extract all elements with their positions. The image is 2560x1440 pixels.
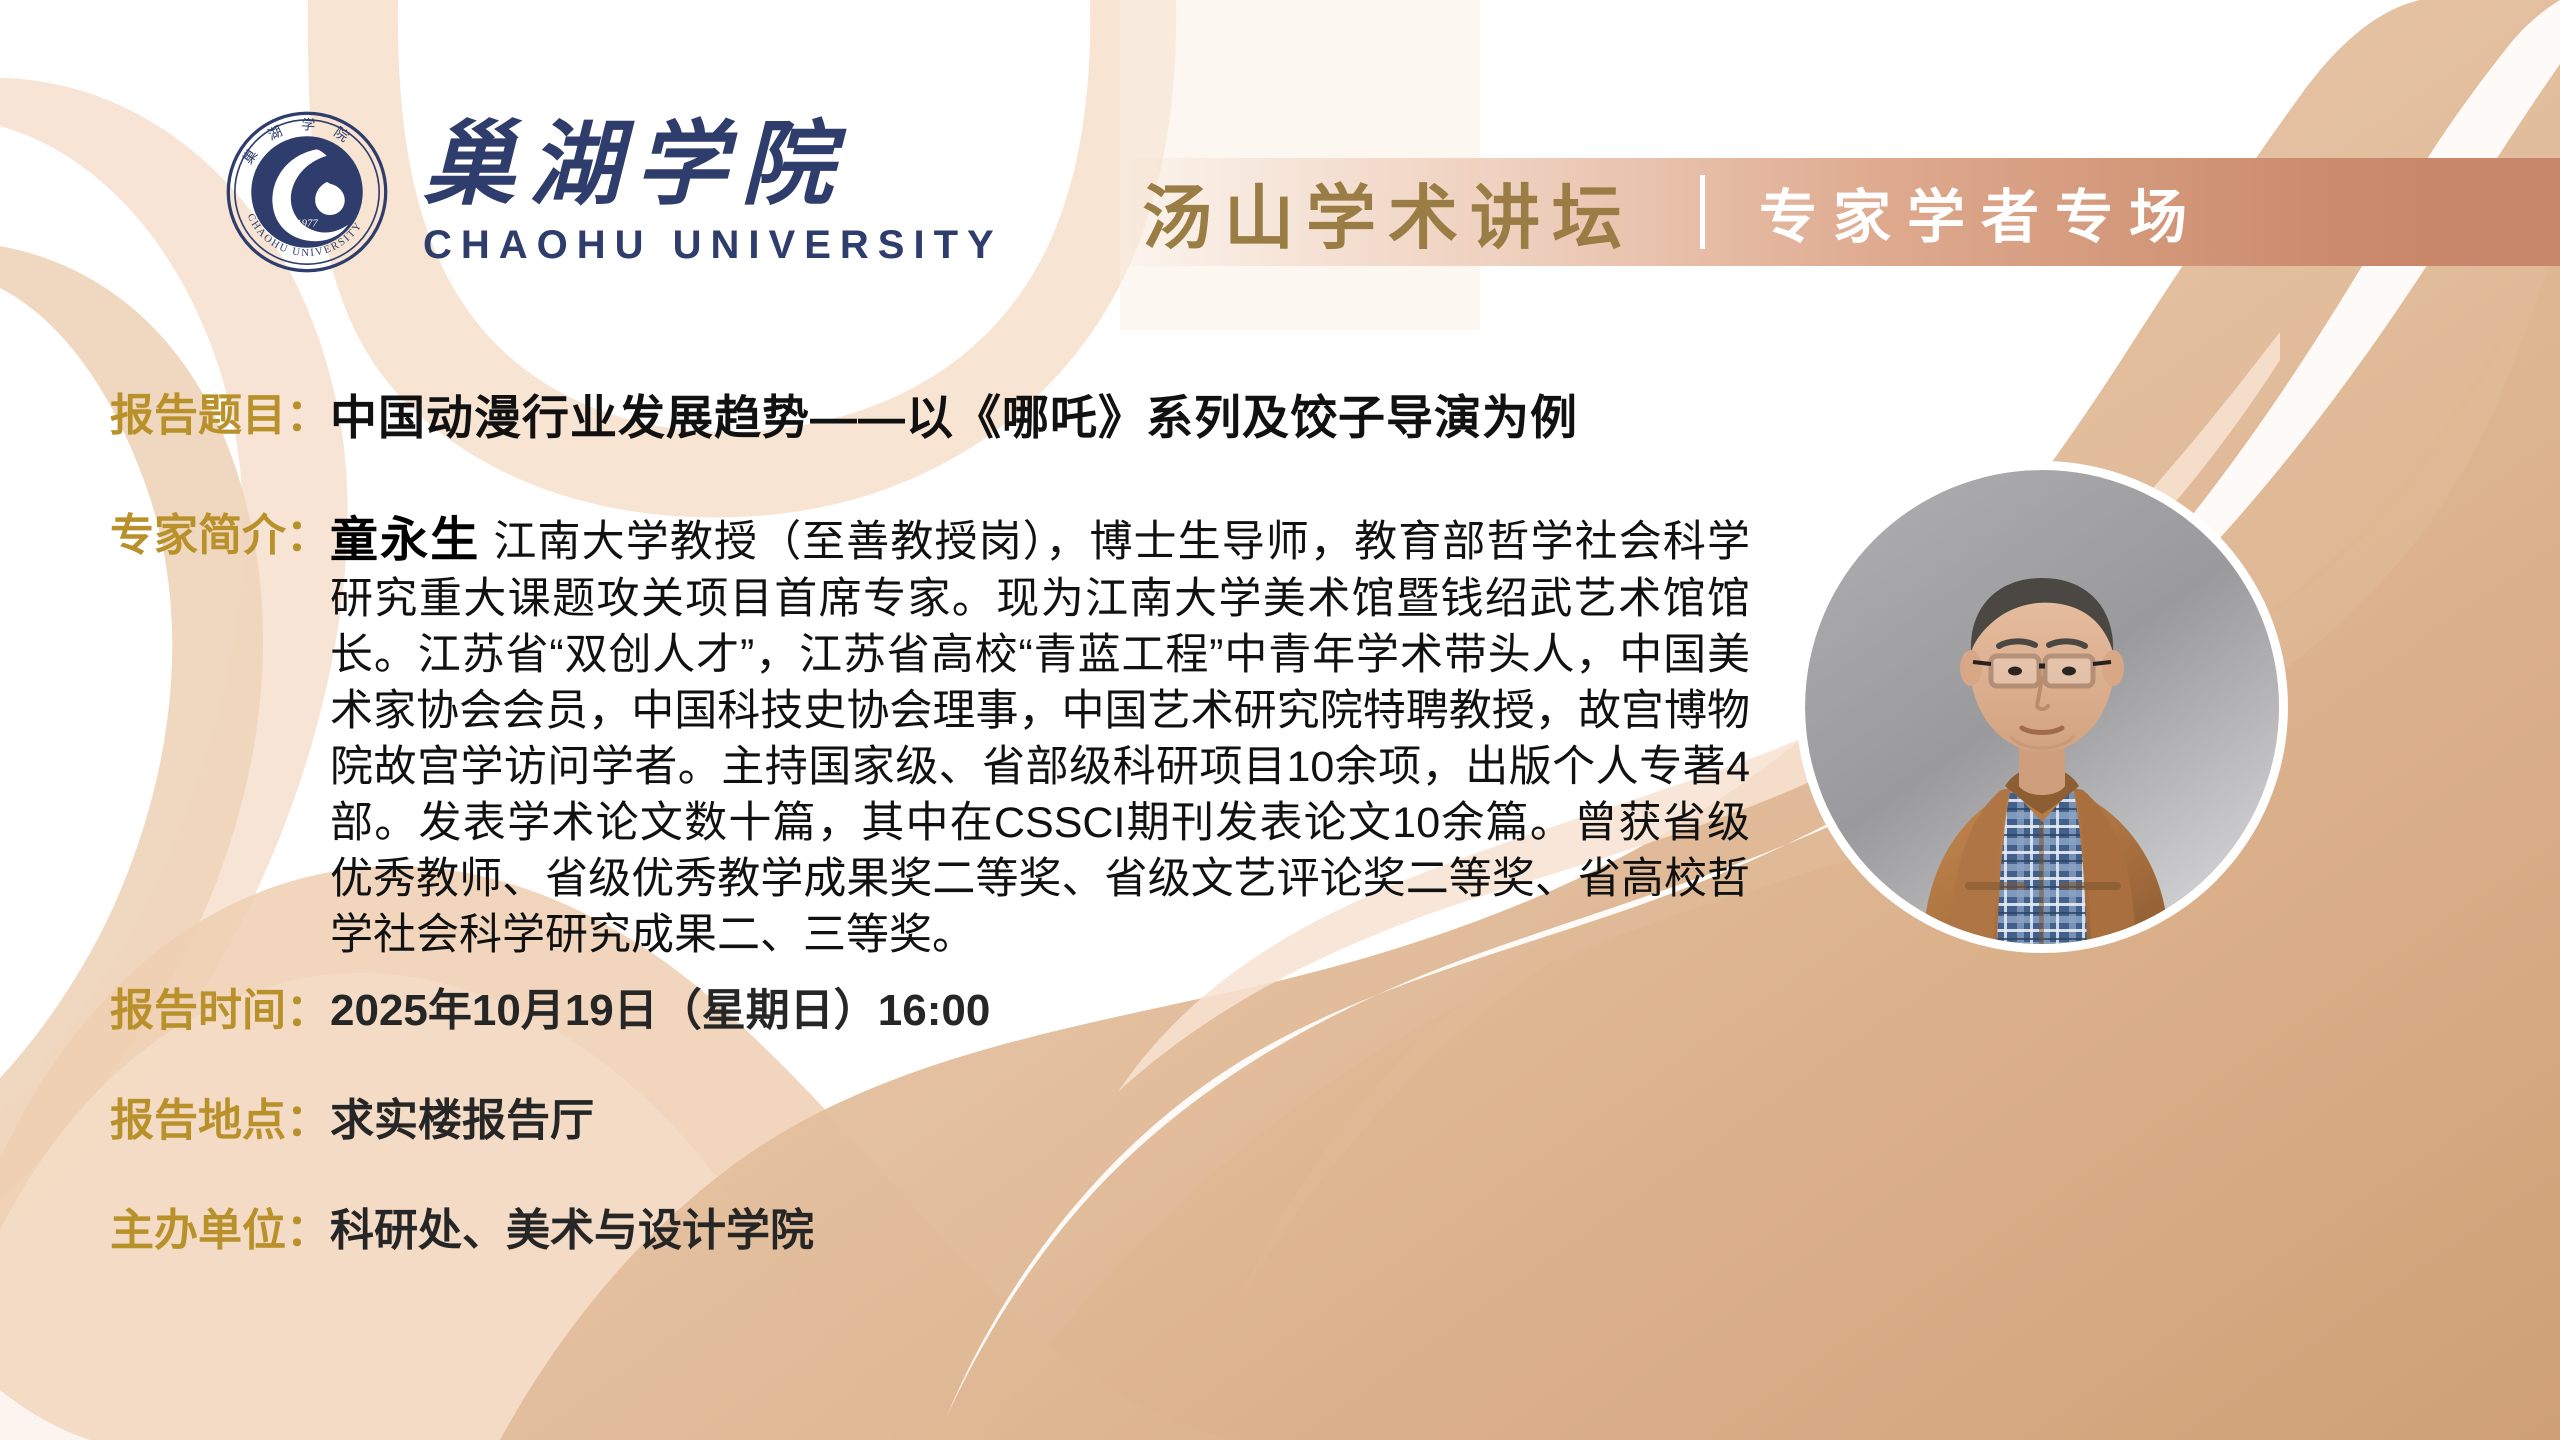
place-label: 报告地点： <box>110 1095 330 1148</box>
place-value: 求实楼报告厅 <box>330 1095 594 1148</box>
topic-label: 报告题目： <box>110 390 330 443</box>
svg-text:1977: 1977 <box>296 218 318 229</box>
field-host: 主办单位： 科研处、美术与设计学院 <box>110 1205 814 1258</box>
field-place: 报告地点： 求实楼报告厅 <box>110 1095 594 1148</box>
speaker-bio-body: 江南大学教授（至善教授岗），博士生导师，教育部哲学社会科学研究重大课题攻关项目首… <box>330 518 1750 959</box>
lecture-poster: 1977 巢 湖 学 院 CHAOHU UNIVERSITY 巢湖学院 CHAO… <box>0 0 2560 1440</box>
time-value: 2025年10月19日（星期日）16:00 <box>330 985 990 1038</box>
banner-subtitle: 专家学者专场 <box>1759 170 2203 254</box>
banner-divider <box>1700 175 1705 249</box>
host-value: 科研处、美术与设计学院 <box>330 1205 814 1258</box>
university-name-en: CHAOHU UNIVERSITY <box>423 225 1003 265</box>
time-label: 报告时间： <box>110 985 330 1038</box>
banner-title: 汤山学术讲坛 <box>1142 162 1634 263</box>
field-topic: 报告题目： 中国动漫行业发展趋势——以《哪吒》系列及饺子导演为例 <box>110 390 1578 446</box>
decor-left-gap <box>0 1390 90 1440</box>
chaohu-university-seal-icon: 1977 巢 湖 学 院 CHAOHU UNIVERSITY <box>225 110 389 274</box>
university-name-cn: 巢湖学院 <box>423 119 1003 211</box>
lecture-series-banner: 汤山学术讲坛 专家学者专场 <box>1100 158 2560 266</box>
speaker-bio-text: 童永生 江南大学教授（至善教授岗），博士生导师，教育部哲学社会科学研究重大课题攻… <box>330 510 1750 964</box>
speaker-name: 童永生 <box>330 514 480 567</box>
portrait-image <box>1805 470 2279 944</box>
university-wordmark: 巢湖学院 CHAOHU UNIVERSITY <box>423 119 1003 265</box>
poster-header: 1977 巢 湖 学 院 CHAOHU UNIVERSITY 巢湖学院 CHAO… <box>0 0 2560 330</box>
field-time: 报告时间： 2025年10月19日（星期日）16:00 <box>110 985 990 1038</box>
university-logo: 1977 巢 湖 学 院 CHAOHU UNIVERSITY 巢湖学院 CHAO… <box>225 110 1003 274</box>
field-speaker-bio: 专家简介： 童永生 江南大学教授（至善教授岗），博士生导师，教育部哲学社会科学研… <box>110 510 1750 964</box>
speaker-portrait <box>1805 470 2279 944</box>
speaker-label: 专家简介： <box>110 510 330 563</box>
topic-value: 中国动漫行业发展趋势——以《哪吒》系列及饺子导演为例 <box>330 390 1578 446</box>
host-label: 主办单位： <box>110 1205 330 1258</box>
